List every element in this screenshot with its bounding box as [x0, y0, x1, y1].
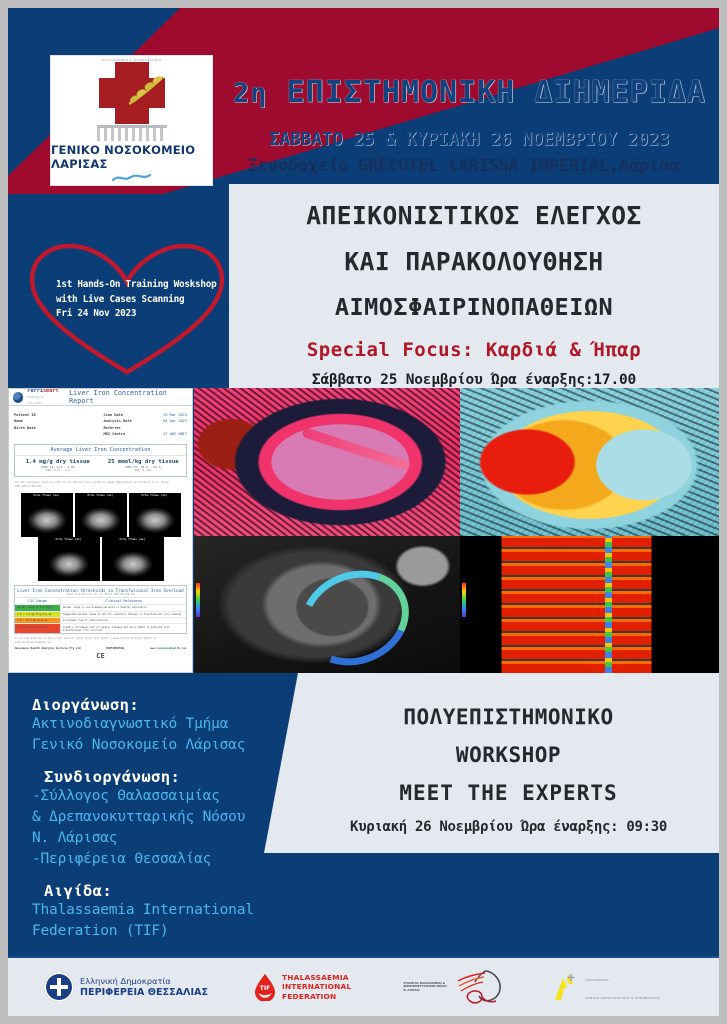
- table-cell-range: > 15.0 mg Fe/g dry wt: [15, 624, 61, 632]
- organiser-line: Γενικό Νοσοκομείο Λάρισας: [32, 735, 302, 756]
- table-cell-range: 1.8 - 7.0 mg Fe/g dry wt: [15, 612, 61, 617]
- table-row: 1.8 - 7.0 mg Fe/g dry wt Suggested optim…: [15, 611, 186, 617]
- brand-smart: Smart: [43, 388, 59, 394]
- building-icon: [97, 125, 167, 141]
- workshop-panel: ΠΟΛΥΕΠΙΣΤΗΜΟΝΙΚΟ WORKSHOP MEET THE EXPER…: [264, 673, 719, 853]
- spine-t2star-sagittal-image: [460, 536, 719, 673]
- tif-logo: TIF THALASSAEMIA INTERNATIONAL FEDERATIO…: [254, 973, 351, 1001]
- hellenic-republic-line-2: ΠΕΡΙΦΕΡΕΙΑ ΘΕΣΣΑΛΙΑΣ: [80, 987, 208, 998]
- headline-panel: ΑΠΕΙΚΟΝΙΣΤΙΚΟΣ ΕΛΕΓΧΟΣ ΚΑΙ ΠΑΡΑΚΟΛΟΥΘΗΣΗ…: [229, 184, 719, 396]
- threshold-subtitle-text: Taken from Olivieri et al, Blood 1997;89…: [15, 593, 186, 596]
- lic-primary-value: 1.4 mg/g dry tissue: [15, 459, 101, 465]
- sponsor-footer: Ελληνική Δημοκρατία ΠΕΡΙΦΕΡΕΙΑ ΘΕΣΣΑΛΙΑΣ…: [8, 956, 719, 1016]
- association-caption: ΣΥΛΛΟΓΟΣ ΘΑΛΑΣΣΑΙΜΙΑΣ & ΔΡΕΠΑΝΟΚΥΤΤΑΡΙΚΗ…: [403, 982, 449, 993]
- apollonio-logo: ΑΠΟΛΛΩΝΕΙΟ ΚΕΝΤΡΟ ΑΠΕΙΚΟΝΙΣΤΙΚΗΣ & ΕΠΕΜΒ…: [549, 967, 660, 1007]
- table-row: 7.0 - 15.0 mg Fe/g dw Increased risk of …: [15, 617, 186, 623]
- ce-mark-icon: CE: [9, 650, 192, 660]
- column-header-range: LIC Range: [15, 598, 61, 604]
- report-mri-thumbnails: Echo Times (ms) Echo Times (ms) Echo Tim…: [9, 489, 192, 581]
- average-lic-box: Average Liver Iron Concentration 1.4 mg/…: [14, 444, 187, 478]
- hellenic-republic-text: Ελληνική Δημοκρατία ΠΕΡΙΦΕΡΕΙΑ ΘΕΣΣΑΛΙΑΣ: [80, 976, 208, 998]
- hands-on-training-text: 1st Hands-On Training Woskshop with Live…: [56, 278, 228, 322]
- organiser-line: Ακτινοδιαγνωστικό Τμήμα: [32, 714, 302, 735]
- training-line-1: 1st Hands-On Training Woskshop: [56, 278, 228, 293]
- auspices-line: Thalassaemia International Federation (T…: [32, 900, 302, 942]
- blue-wave-icon: [112, 172, 152, 184]
- workshop-line-2: WORKSHOP: [298, 743, 719, 767]
- report-brand: FerriSmart Powered by FerriScan: [27, 388, 59, 406]
- tif-text: THALASSAEMIA INTERNATIONAL FEDERATION: [282, 973, 351, 1001]
- red-cross-icon: [95, 62, 169, 124]
- apollonio-mark-icon: [549, 972, 579, 1002]
- metadata-left-column: Patient ID Name Birth Date: [14, 412, 98, 438]
- workshop-line-3: MEET THE EXPERTS: [298, 781, 719, 805]
- coorganiser-label: Συνδιοργάνωση:: [32, 768, 302, 786]
- table-row: > 15.0 mg Fe/g dry wt Greatly increased …: [15, 623, 186, 632]
- column-header-relevance: Clinical Relevance: [61, 598, 186, 604]
- headline-line-1: ΑΠΕΙΚΟΝΙΣΤΙΚΟΣ ΕΛΕΓΧΟΣ: [229, 201, 719, 230]
- thumbnail-row-1: Echo Times (ms) Echo Times (ms) Echo Tim…: [15, 493, 186, 537]
- olive-branch-icon: [125, 72, 167, 108]
- threshold-table-title: Liver Iron Concentration thresholds in T…: [15, 586, 186, 597]
- poster-canvas: ΚΟΥΤΛΙΜΠΑΝΕΙΟ & ΤΡΙΑΝΤΑΦΥΛΛΕΙΟ ΓΕΝΙΚΟ ΝΟ…: [8, 8, 719, 1016]
- table-cell-range: Normal range (< 1.8 mg/g): [15, 605, 61, 610]
- meta-value: 27 mBI UNIT: [163, 431, 187, 437]
- tif-line-2: INTERNATIONAL: [282, 982, 351, 991]
- thumbnail-row-2: Echo Times (ms) Echo Times (ms): [15, 537, 186, 581]
- table-cell-range: 7.0 - 15.0 mg Fe/g dw: [15, 618, 61, 623]
- hospital-logo: ΚΟΥΤΛΙΜΠΑΝΕΙΟ & ΤΡΙΑΝΤΑΦΥΛΛΕΙΟ ΓΕΝΙΚΟ ΝΟ…: [50, 55, 213, 186]
- lic-value-mgg: 1.4 mg/g dry tissue (95% CI: 1.0 - 1.8) …: [15, 459, 101, 473]
- training-line-2: with Live Cases Scanning: [56, 293, 228, 308]
- imaging-gallery: FerriSmart Powered by FerriScan Liver Ir…: [8, 388, 719, 673]
- mri-thumbnail: Echo Times (ms): [38, 537, 100, 581]
- tif-line-3: FEDERATION: [282, 992, 351, 1001]
- coorganiser-line: Ν. Λάρισας: [32, 828, 302, 849]
- hellenic-republic-thessaly-logo: Ελληνική Δημοκρατία ΠΕΡΙΦΕΡΕΙΑ ΘΕΣΣΑΛΙΑΣ: [44, 972, 208, 1002]
- report-header: FerriSmart Powered by FerriScan Liver Ir…: [9, 389, 192, 406]
- metadata-right-column: Scan Date29 Mar 2023 Analysis Date04 Apr…: [104, 412, 188, 438]
- apollonio-text: ΑΠΟΛΛΩΝΕΙΟ ΚΕΝΤΡΟ ΑΠΕΙΚΟΝΙΣΤΙΚΗΣ & ΕΠΕΜΒ…: [585, 967, 660, 1007]
- table-cell-relevance: Increased risk of complications: [61, 618, 186, 623]
- organiser-label: Διοργάνωση:: [32, 696, 302, 714]
- abdominal-t2star-colormap-image: [460, 388, 719, 536]
- table-cell-relevance: Suggested optimal range of LIC for chela…: [61, 612, 186, 617]
- coorganiser-line: -Σύλλογος Θαλασσαιμίας: [32, 786, 302, 807]
- conference-poster: ΚΟΥΤΛΙΜΠΑΝΕΙΟ & ΤΡΙΑΝΤΑΦΥΛΛΕΙΟ ΓΕΝΙΚΟ ΝΟ…: [0, 0, 727, 1024]
- meta-key: MRI Centre: [104, 431, 126, 437]
- saturday-start-time: Σάββατο 25 Νοεμβρίου Ώρα έναρξης:17.00: [229, 372, 719, 388]
- blood-drop-icon: TIF: [254, 973, 276, 1001]
- table-row: Normal range (< 1.8 mg/g) Normal range i…: [15, 604, 186, 610]
- meta-key: Birth Date: [14, 425, 36, 431]
- headline-line-3: ΑΙΜΟΣΦΑΙΡΙΝΟΠΑΘΕΙΩΝ: [229, 293, 719, 321]
- table-cell-relevance: Normal range in non-disease patients or …: [61, 605, 186, 610]
- color-scale-bar: [462, 583, 466, 617]
- footer-website-link[interactable]: www.resonancehealth.com: [150, 647, 186, 650]
- report-ci-note: The 95% confidence intervals (95% CI) ar…: [9, 479, 192, 489]
- workshop-line-1: ΠΟΛΥΕΠΙΣΤΗΜΟΝΙΚΟ: [298, 705, 719, 729]
- coorganiser-line: & Δρεπανοκυτταρικής Νόσου: [32, 807, 302, 828]
- lic-iqr: IQR: 9 (31): [101, 469, 187, 472]
- threshold-table-header-row: LIC Range Clinical Relevance: [15, 597, 186, 604]
- larissa-thalassaemia-association-logo: ΣΥΛΛΟΓΟΣ ΘΑΛΑΣΣΑΙΜΙΑΣ & ΔΡΕΠΑΝΟΚΥΤΤΑΡΙΚΗ…: [403, 967, 509, 1007]
- workshop-start-time: Κυριακή 26 Νοεμβρίου Ώρα έναρξης: 09:30: [298, 819, 719, 835]
- special-focus-text: Special Focus: Καρδιά & Ήπαρ: [229, 339, 719, 361]
- organiser-group: Διοργάνωση: Ακτινοδιαγνωστικό Τμήμα Γενι…: [32, 696, 302, 756]
- apollonio-title: ΑΠΟΛΛΩΝΕΙΟ: [585, 978, 608, 982]
- hospital-logo-name: ΓΕΝΙΚΟ ΝΟΣΟΚΟΜΕΙΟ ΛΑΡΙΣΑΣ: [51, 143, 212, 171]
- ferrismart-liver-iron-report: FerriSmart Powered by FerriScan Liver Ir…: [8, 388, 193, 673]
- lic-threshold-table: Liver Iron Concentration thresholds in T…: [14, 585, 187, 634]
- footer-company: Resonance Health Analysis Services Pty L…: [15, 647, 81, 650]
- apollonio-subtitle: ΚΕΝΤΡΟ ΑΠΕΙΚΟΝΙΣΤΙΚΗΣ & ΕΠΕΜΒΑΤΙΚΗΣ: [585, 989, 660, 1007]
- mri-thumbnail: Echo Times (ms): [129, 493, 181, 537]
- tif-line-1: THALASSAEMIA: [282, 973, 351, 982]
- mri-thumbnail: Echo Times (ms): [75, 493, 127, 537]
- tif-mark-text: TIF: [260, 985, 270, 992]
- training-line-3: Fri 24 Nov 2023: [56, 307, 228, 322]
- meta-value: 04 Apr 2023: [163, 418, 187, 424]
- title-ordinal: 2η: [233, 78, 268, 109]
- brand-subtitle: Powered by FerriScan: [27, 394, 59, 406]
- report-support-note: If you have questions on the current ana…: [9, 634, 192, 645]
- cardiac-cine-septal-roi-image: [194, 536, 460, 673]
- ferrismart-logo-icon: [13, 392, 23, 403]
- horse-head-icon: [455, 967, 509, 1007]
- coorganiser-group: Συνδιοργάνωση: -Σύλλογος Θαλασσαιμίας & …: [32, 768, 302, 870]
- auspices-label: Αιγίδα:: [32, 882, 302, 900]
- greek-republic-emblem-icon: [44, 972, 74, 1002]
- mri-thumbnail: Echo Times (ms): [102, 537, 164, 581]
- lic-iqr: IQR: 0.77 - 1.9: [15, 469, 101, 472]
- color-scale-bar: [196, 583, 200, 617]
- auspices-group: Αιγίδα: Thalassaemia International Feder…: [32, 882, 302, 942]
- conference-venue: Ξενοδοχείο GRECOTEL LARISSA IMPERIAL,Λάρ…: [208, 156, 719, 176]
- report-metadata: Patient ID Name Birth Date Scan Date29 M…: [9, 406, 192, 442]
- title-text: ΕΠΙΣΤΗΜΟΝΙΚΗ ΔΙΗΜΕΡΙΔΑ: [287, 75, 706, 110]
- coorganiser-line: -Περιφέρεια Θεσσαλίας: [32, 849, 302, 870]
- report-title: Liver Iron Concentration Report: [69, 389, 188, 405]
- footer-confidential: CONFIDENTIAL: [106, 647, 125, 650]
- lic-primary-value: 25 mmol/kg dry tissue: [101, 459, 187, 465]
- page-title: 2η ΕΠΙΣΤΗΜΟΝΙΚΗ ΔΙΗΜΕΡΙΔΑ: [220, 75, 719, 110]
- headline-line-2: ΚΑΙ ΠΑΡΑΚΟΛΟΥΘΗΣΗ: [229, 247, 719, 276]
- organisation-block: Διοργάνωση: Ακτινοδιαγνωστικό Τμήμα Γενι…: [32, 696, 302, 954]
- table-cell-relevance: Greatly increased risk of cardiac diseas…: [61, 624, 186, 632]
- hands-on-training-badge: 1st Hands-On Training Woskshop with Live…: [22, 238, 232, 378]
- conference-dates: ΣΑΒΒΑΤΟ 25 & ΚΥΡΙΑΚΗ 26 ΝΟΕΜΒΡΙΟΥ 2023: [220, 130, 719, 150]
- threshold-title-text: Liver Iron Concentration thresholds in T…: [17, 588, 183, 593]
- average-lic-header: Average Liver Iron Concentration: [15, 445, 186, 456]
- lic-value-mmolkg: 25 mmol/kg dry tissue (95% CI: 18.1 - 33…: [101, 459, 187, 473]
- mri-thumbnail: Echo Times (ms): [21, 493, 73, 537]
- cardiac-t2star-colormap-image: [194, 388, 460, 536]
- hellenic-republic-line-1: Ελληνική Δημοκρατία: [80, 976, 171, 986]
